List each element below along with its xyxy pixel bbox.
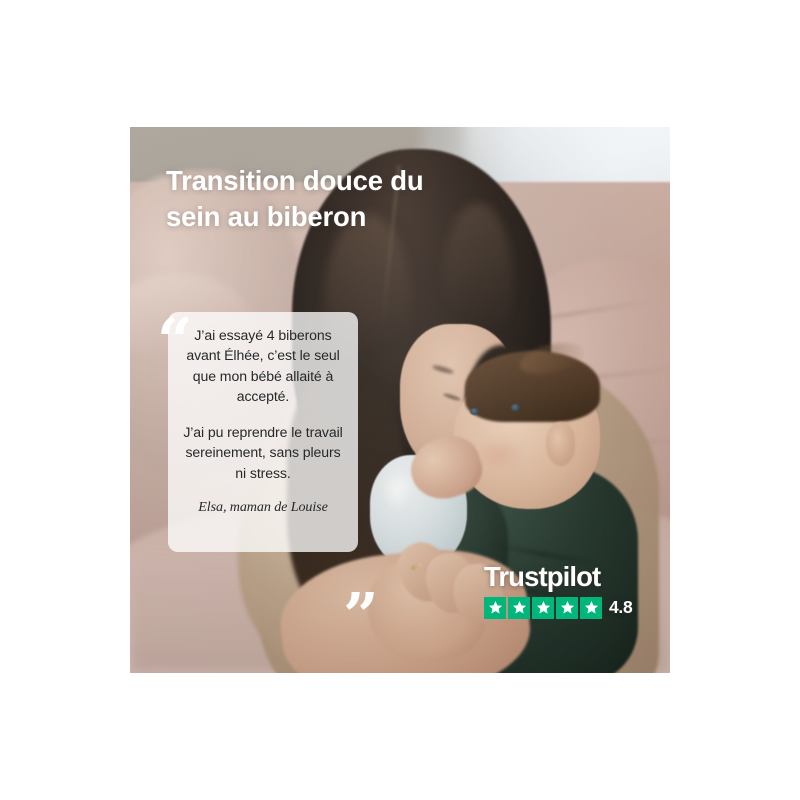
trustpilot-wordmark: Trustpilot	[484, 563, 632, 591]
star-icon	[484, 597, 506, 619]
testimonial-paragraph-1: J’ai essayé 4 biberons avant Élhée, c’es…	[181, 325, 345, 406]
promo-image: Transition douce du sein au biberon “ J’…	[0, 0, 800, 800]
quote-close-mark: ”	[343, 597, 377, 635]
page-title: Transition douce du sein au biberon	[166, 163, 496, 235]
trustpilot-rating-row: 4.8	[484, 597, 632, 619]
baby-cheek	[476, 438, 525, 471]
baby-ear	[546, 422, 576, 466]
star-icon	[580, 597, 602, 619]
testimonial-paragraph-2: J’ai pu reprendre le travail sereinement…	[181, 422, 345, 483]
star-icon	[508, 597, 530, 619]
trustpilot-score: 4.8	[609, 597, 632, 618]
headline-line-2: sein au biberon	[166, 199, 496, 235]
star-icon	[556, 597, 578, 619]
trustpilot-stars	[484, 597, 602, 619]
testimonial-attribution: Elsa, maman de Louise	[181, 497, 345, 517]
testimonial-card: J’ai essayé 4 biberons avant Élhée, c’es…	[168, 312, 358, 552]
star-icon	[532, 597, 554, 619]
baby-eye	[470, 408, 479, 415]
trustpilot-badge[interactable]: Trustpilot 4.8	[484, 563, 632, 619]
headline-line-1: Transition douce du	[166, 163, 496, 199]
